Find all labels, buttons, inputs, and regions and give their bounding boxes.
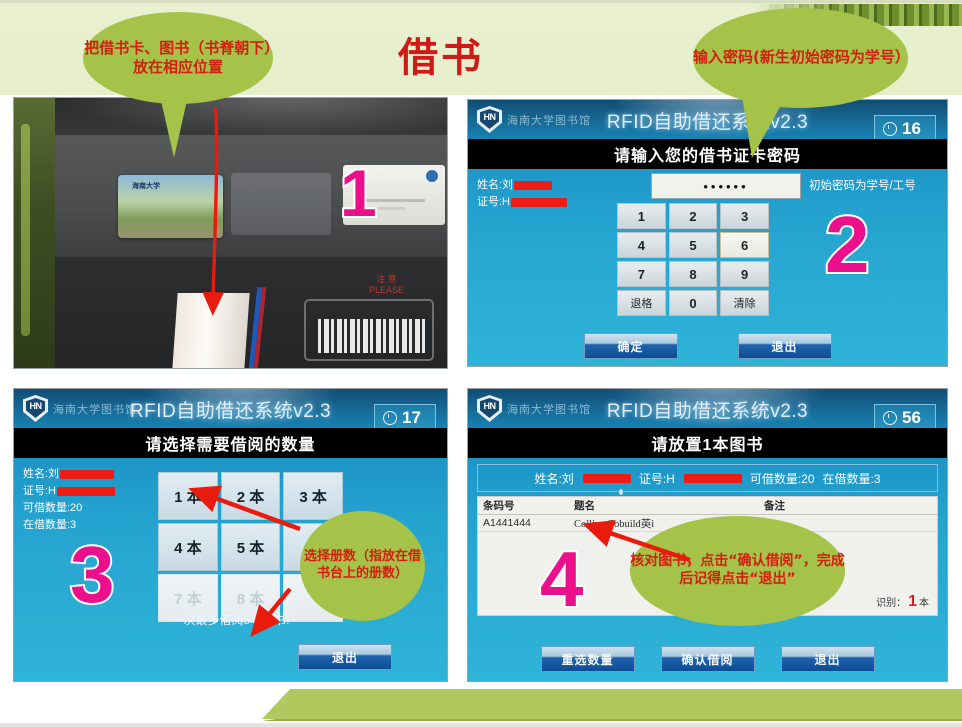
panel-step1-photo: 海南大学 注 意 PLEASE — [13, 97, 448, 369]
page-title: 借书 — [398, 38, 484, 78]
step-number-2: 2 — [825, 205, 870, 285]
bottom-green-bar — [262, 689, 962, 719]
callout-step1: 把借书卡、图书（书脊朝下）放在相应位置 — [83, 12, 273, 104]
callout-step3: 选择册数（指放在借书台上的册数） — [300, 511, 425, 621]
step-3-label: 3 — [70, 530, 115, 619]
step-number-3: 3 — [70, 535, 115, 615]
panel-step2-screen: HN 海南大学图书馆 RFID自助借还系统v2.3 16 请输入您的借书证卡密码… — [467, 99, 948, 367]
panel2-frame — [467, 99, 948, 367]
bottom-rule — [0, 723, 962, 727]
step-number-1: 1 — [340, 160, 377, 226]
bottom-band — [0, 680, 962, 727]
panel1-frame — [13, 97, 448, 369]
step-number-4: 4 — [540, 540, 583, 618]
step-4-label: 4 — [540, 535, 583, 623]
step-1-label: 1 — [340, 156, 377, 230]
callout-1-tail — [160, 96, 188, 158]
slide-page: 借书 海南大学 注 意 PLEASE — [0, 0, 962, 727]
callout-step2: 输入密码(新生初始密码为学号） — [693, 8, 908, 108]
step-2-label: 2 — [825, 200, 870, 289]
callout-step4: 核对图书，点击“确认借阅”，完成后记得点击“退出” — [630, 516, 845, 626]
top-edge-line — [0, 0, 962, 3]
